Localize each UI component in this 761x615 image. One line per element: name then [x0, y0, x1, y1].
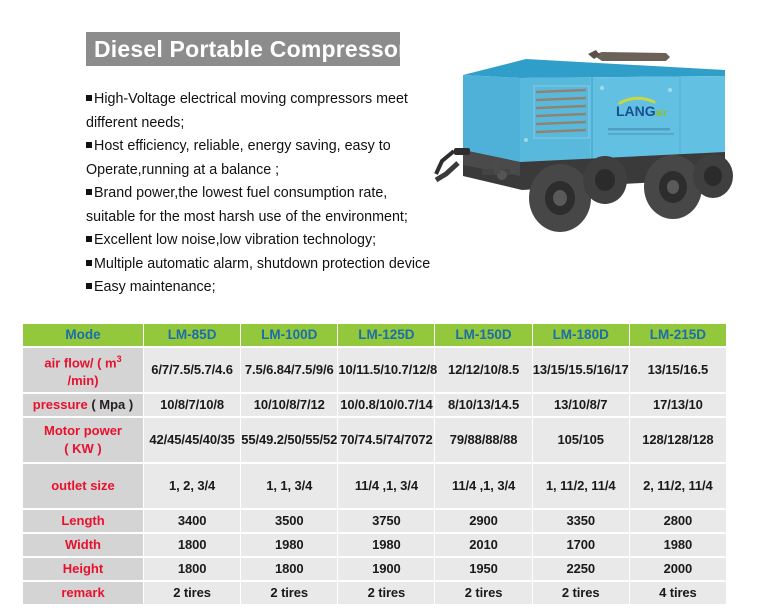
column-header-lm-215d: LM-215D [630, 324, 726, 346]
cell-remark-lm-150d: 2 tires [435, 582, 531, 604]
bullet-text-cont: Operate,running at a balance ; [86, 159, 426, 183]
list-item: Host efficiency, reliable, energy saving… [86, 135, 426, 182]
bullet-text: Host efficiency, reliable, energy saving… [94, 138, 391, 154]
cell-air-flow-lm-180d: 13/15/15.5/16/17 [533, 348, 629, 392]
feature-bullet-list: High-Voltage electrical moving compresso… [86, 88, 426, 300]
brand-logo-text: LANG [616, 103, 656, 119]
table-row: air flow/ ( m3 /min) 6/7/7.5/5.7/4.6 7.5… [23, 348, 726, 392]
product-spec-page: Diesel Portable Compressor High-Voltage … [0, 0, 761, 615]
list-item: Brand power,the lowest fuel consumption … [86, 182, 426, 229]
row-label-outlet-size: outlet size [23, 464, 143, 508]
cell-width-lm-180d: 1700 [533, 534, 629, 556]
bullet-line: High-Voltage electrical moving compresso… [86, 88, 426, 112]
page-title-band: Diesel Portable Compressor [86, 32, 400, 66]
bullet-line: Excellent low noise,low vibration techno… [86, 229, 426, 253]
cell-air-flow-lm-215d: 13/15/16.5 [630, 348, 726, 392]
bullet-line: Brand power,the lowest fuel consumption … [86, 182, 426, 206]
row-label-air-flow: air flow/ ( m3 /min) [23, 348, 143, 392]
cell-motor-power-lm-150d: 79/88/88/88 [435, 418, 531, 462]
bullet-line: Host efficiency, reliable, energy saving… [86, 135, 426, 159]
cell-pressure-lm-100d: 10/10/8/7/12 [241, 394, 337, 416]
cell-length-lm-125d: 3750 [338, 510, 434, 532]
cell-width-lm-100d: 1980 [241, 534, 337, 556]
cell-width-lm-150d: 2010 [435, 534, 531, 556]
row-label-width: Width [23, 534, 143, 556]
bullet-text: Excellent low noise,low vibration techno… [94, 232, 376, 248]
row-label-line2: ( KW ) [64, 441, 102, 456]
cell-remark-lm-100d: 2 tires [241, 582, 337, 604]
cell-height-lm-125d: 1900 [338, 558, 434, 580]
cell-length-lm-100d: 3500 [241, 510, 337, 532]
bullet-text: Easy maintenance; [94, 279, 216, 295]
cell-motor-power-lm-125d: 70/74.5/74/7072 [338, 418, 434, 462]
square-bullet-icon [86, 283, 92, 289]
cell-outlet-size-lm-150d: 11/4 ,1, 3/4 [435, 464, 531, 508]
cell-length-lm-180d: 3350 [533, 510, 629, 532]
bullet-text-cont: suitable for the most harsh use of the e… [86, 206, 426, 230]
column-header-mode: Mode [23, 324, 143, 346]
cell-width-lm-125d: 1980 [338, 534, 434, 556]
cell-outlet-size-lm-125d: 11/4 ,1, 3/4 [338, 464, 434, 508]
list-item: Multiple automatic alarm, shutdown prote… [86, 253, 426, 277]
cell-motor-power-lm-85d: 42/45/45/40/35 [144, 418, 240, 462]
row-label-line1: Motor power [44, 423, 122, 438]
cell-motor-power-lm-215d: 128/128/128 [630, 418, 726, 462]
cell-motor-power-lm-100d: 55/49.2/50/55/52 [241, 418, 337, 462]
cell-height-lm-85d: 1800 [144, 558, 240, 580]
column-header-lm-85d: LM-85D [144, 324, 240, 346]
table-row: Width 1800 1980 1980 2010 1700 1980 [23, 534, 726, 556]
row-label-pressure: pressure ( Mpa ) [23, 394, 143, 416]
square-bullet-icon [86, 189, 92, 195]
cell-outlet-size-lm-85d: 1, 2, 3/4 [144, 464, 240, 508]
cell-height-lm-100d: 1800 [241, 558, 337, 580]
page-title: Diesel Portable Compressor [86, 36, 407, 63]
cell-pressure-lm-180d: 13/10/8/7 [533, 394, 629, 416]
table-row: pressure ( Mpa ) 10/8/7/10/8 10/10/8/7/1… [23, 394, 726, 416]
cell-air-flow-lm-85d: 6/7/7.5/5.7/4.6 [144, 348, 240, 392]
row-label-superscript: 3 [117, 354, 122, 364]
cell-height-lm-180d: 2250 [533, 558, 629, 580]
table-row: Length 3400 3500 3750 2900 3350 2800 [23, 510, 726, 532]
cell-height-lm-215d: 2000 [630, 558, 726, 580]
cell-length-lm-150d: 2900 [435, 510, 531, 532]
row-label-text: pressure [33, 397, 88, 412]
list-item: High-Voltage electrical moving compresso… [86, 88, 426, 135]
row-label-unit: ( Mpa ) [88, 397, 134, 412]
list-item: Excellent low noise,low vibration techno… [86, 229, 426, 253]
product-photo: LANG air [430, 30, 741, 262]
cell-pressure-lm-125d: 10/0.8/10/0.7/14 [338, 394, 434, 416]
table-row: Height 1800 1800 1900 1950 2250 2000 [23, 558, 726, 580]
column-header-lm-180d: LM-180D [533, 324, 629, 346]
cell-width-lm-85d: 1800 [144, 534, 240, 556]
bullet-text: High-Voltage electrical moving compresso… [94, 91, 408, 107]
row-label-length: Length [23, 510, 143, 532]
svg-text:air: air [655, 108, 667, 119]
column-header-lm-100d: LM-100D [241, 324, 337, 346]
cell-width-lm-215d: 1980 [630, 534, 726, 556]
cell-outlet-size-lm-100d: 1, 1, 3/4 [241, 464, 337, 508]
cell-remark-lm-85d: 2 tires [144, 582, 240, 604]
bullet-line: Easy maintenance; [86, 276, 426, 300]
column-header-lm-125d: LM-125D [338, 324, 434, 346]
cell-air-flow-lm-125d: 10/11.5/10.7/12/8 [338, 348, 434, 392]
row-label-motor-power: Motor power ( KW ) [23, 418, 143, 462]
table-header-row: Mode LM-85D LM-100D LM-125D LM-150D LM-1… [23, 324, 726, 346]
table-row: remark 2 tires 2 tires 2 tires 2 tires 2… [23, 582, 726, 604]
cell-remark-lm-125d: 2 tires [338, 582, 434, 604]
cell-height-lm-150d: 1950 [435, 558, 531, 580]
square-bullet-icon [86, 236, 92, 242]
cell-outlet-size-lm-180d: 1, 11/2, 11/4 [533, 464, 629, 508]
row-label-height: Height [23, 558, 143, 580]
cell-remark-lm-215d: 4 tires [630, 582, 726, 604]
top-section: Diesel Portable Compressor High-Voltage … [0, 0, 761, 300]
cell-length-lm-215d: 2800 [630, 510, 726, 532]
bullet-text: Brand power,the lowest fuel consumption … [94, 185, 387, 201]
row-label-line1: air flow/ ( m [44, 355, 116, 370]
specification-table: Mode LM-85D LM-100D LM-125D LM-150D LM-1… [22, 322, 727, 606]
table-row: outlet size 1, 2, 3/4 1, 1, 3/4 11/4 ,1,… [23, 464, 726, 508]
cell-remark-lm-180d: 2 tires [533, 582, 629, 604]
bullet-text-cont: different needs; [86, 112, 426, 136]
list-item: Easy maintenance; [86, 276, 426, 300]
square-bullet-icon [86, 142, 92, 148]
bullet-text: Multiple automatic alarm, shutdown prote… [94, 256, 430, 272]
cell-pressure-lm-215d: 17/13/10 [630, 394, 726, 416]
compressor-illustration: LANG air [430, 30, 741, 262]
square-bullet-icon [86, 95, 92, 101]
cell-outlet-size-lm-215d: 2, 11/2, 11/4 [630, 464, 726, 508]
cell-air-flow-lm-100d: 7.5/6.84/7.5/9/6 [241, 348, 337, 392]
cell-length-lm-85d: 3400 [144, 510, 240, 532]
square-bullet-icon [86, 260, 92, 266]
cell-pressure-lm-85d: 10/8/7/10/8 [144, 394, 240, 416]
column-header-lm-150d: LM-150D [435, 324, 531, 346]
bullet-line: Multiple automatic alarm, shutdown prote… [86, 253, 426, 277]
row-label-line2: /min) [67, 373, 98, 388]
cell-pressure-lm-150d: 8/10/13/14.5 [435, 394, 531, 416]
row-label-remark: remark [23, 582, 143, 604]
table-row: Motor power ( KW ) 42/45/45/40/35 55/49.… [23, 418, 726, 462]
cell-air-flow-lm-150d: 12/12/10/8.5 [435, 348, 531, 392]
cell-motor-power-lm-180d: 105/105 [533, 418, 629, 462]
